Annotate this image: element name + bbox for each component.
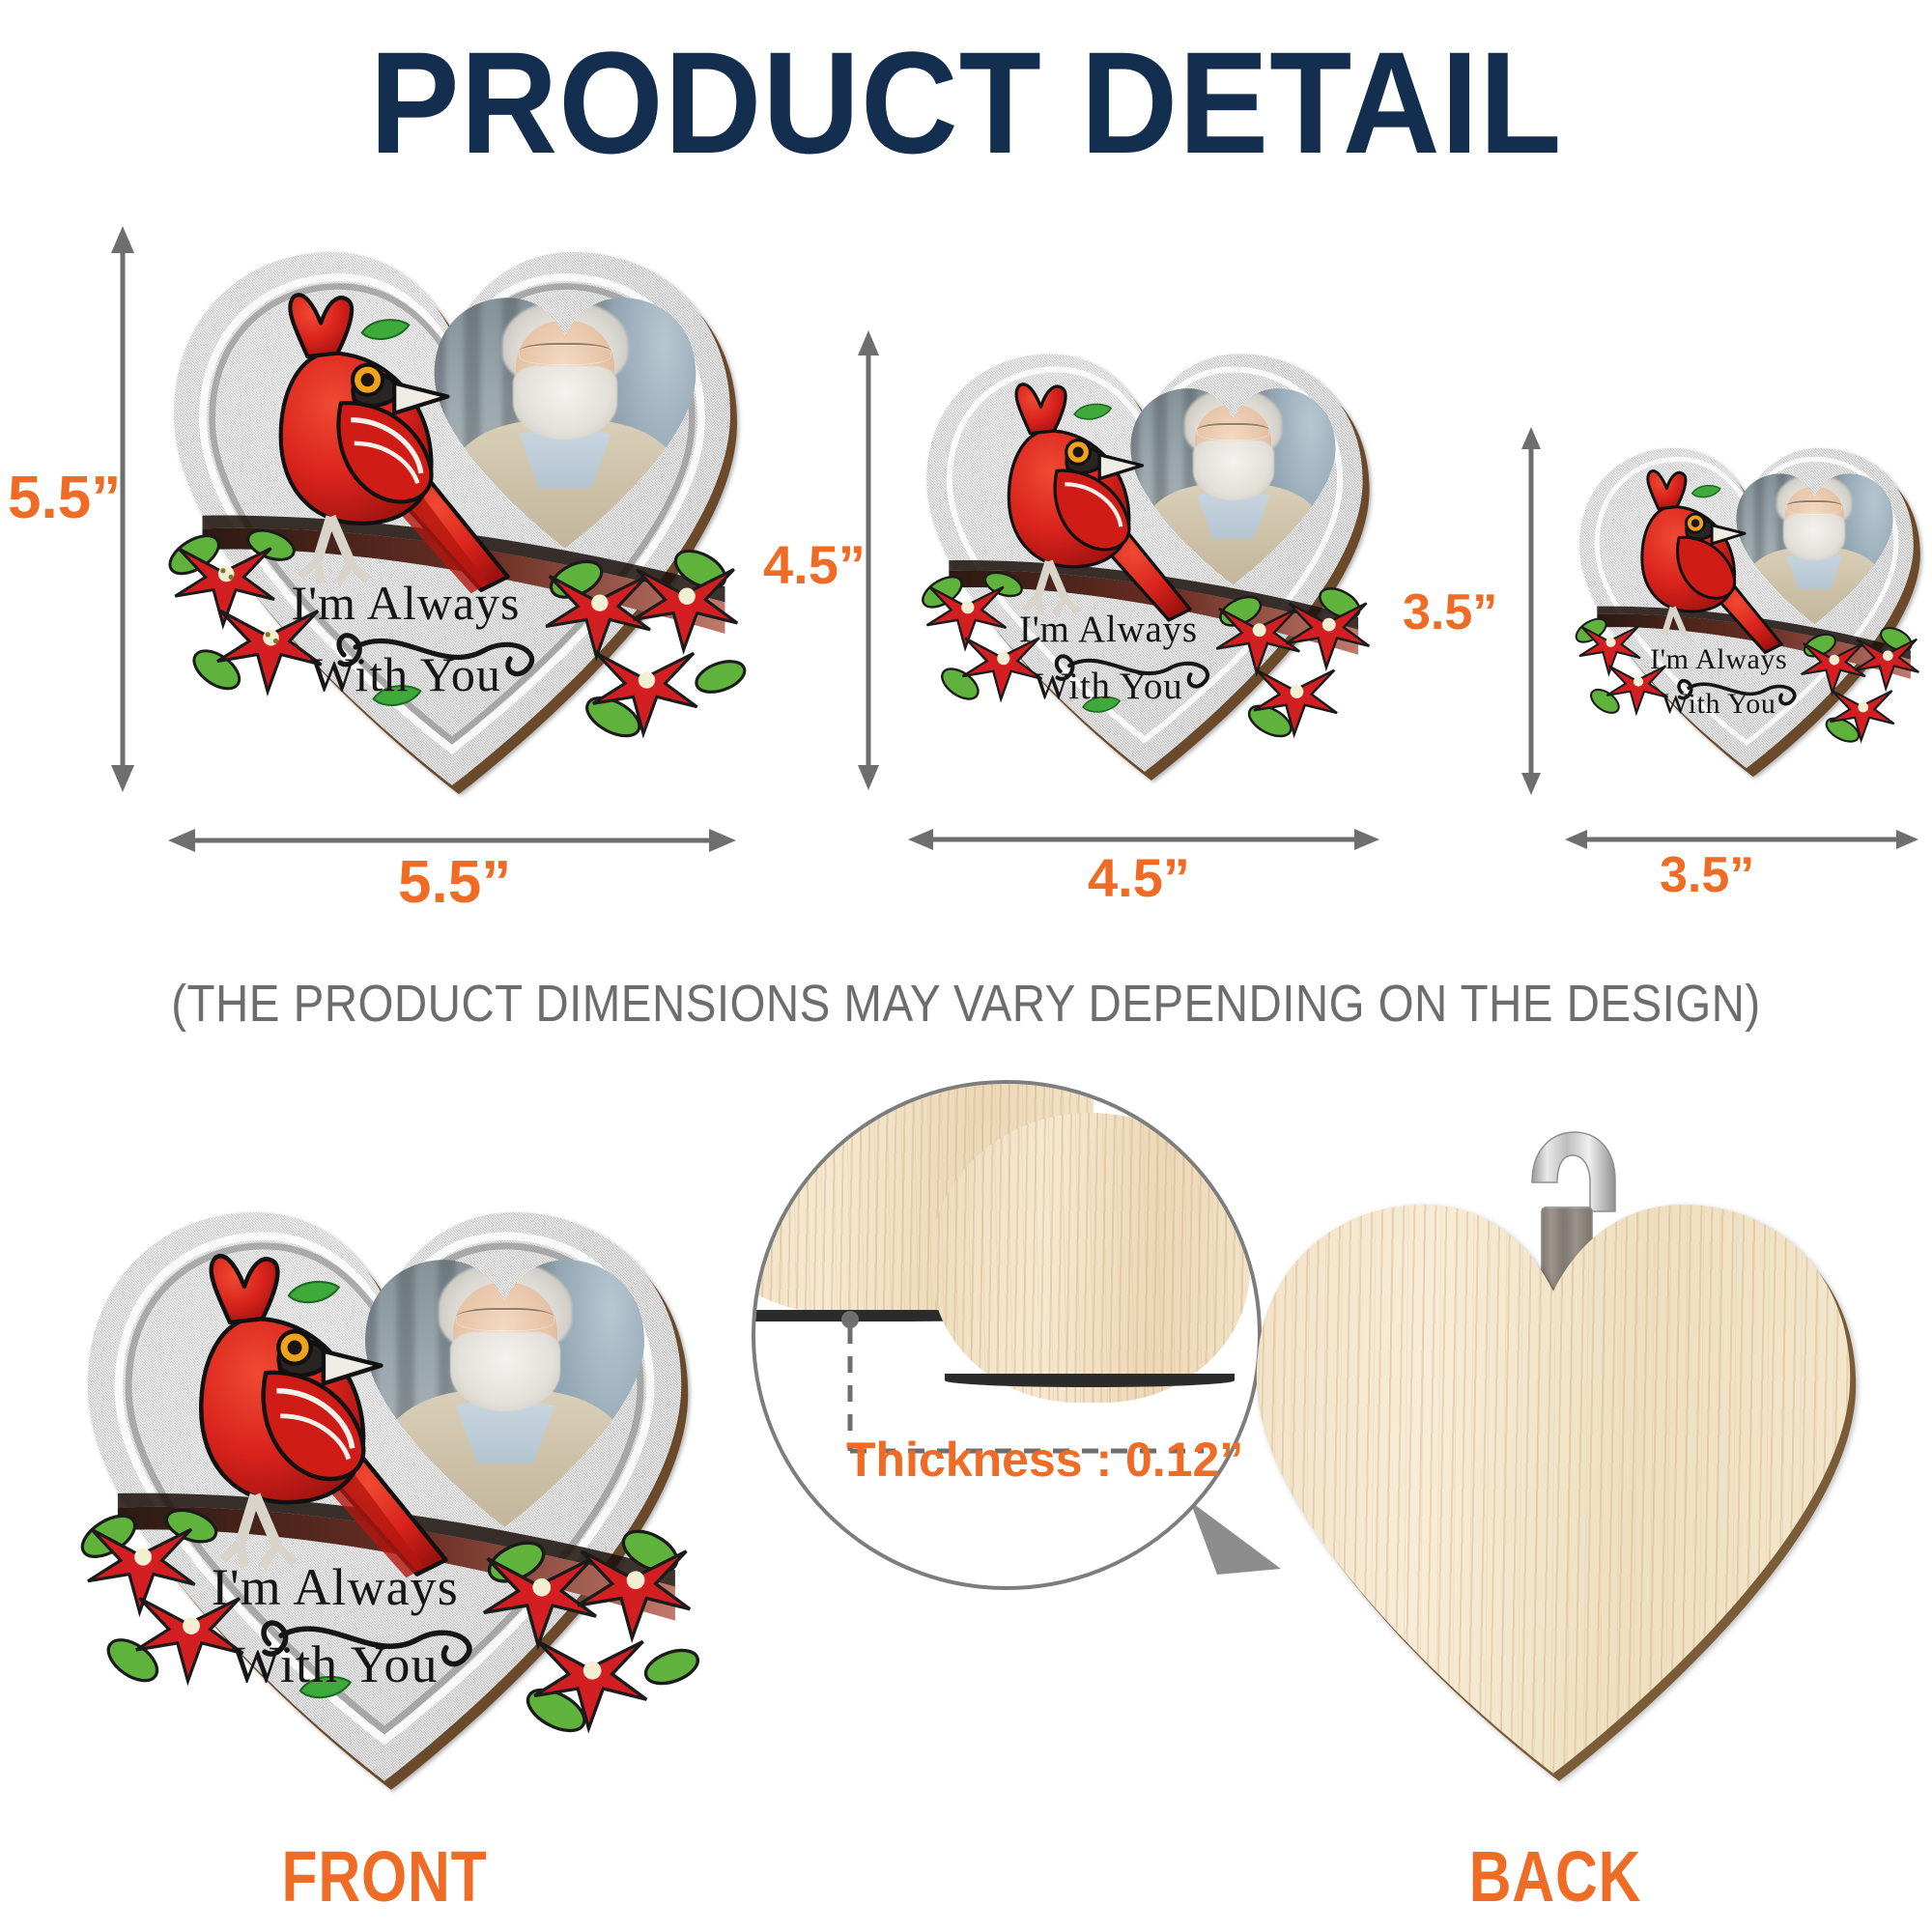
plaque-back-view <box>1244 1169 1862 1797</box>
dimension-label-width-medium: 4.5” <box>1088 846 1190 909</box>
poinsettia-cluster-right-front <box>459 1479 719 1750</box>
poinsettia-cluster-right-large <box>522 502 765 753</box>
dimension-label-height-medium: 4.5” <box>763 533 866 596</box>
poinsettia-cluster-right-medium <box>1199 550 1389 751</box>
green-leaf-top-small <box>1690 480 1721 503</box>
dimension-label-height-small: 3.5” <box>1403 583 1497 641</box>
plaque-medium: I'm Always With You <box>918 340 1372 777</box>
thickness-label: Thickness : 0.12” <box>846 1432 1243 1488</box>
page-title: PRODUCT DETAIL <box>68 27 1864 180</box>
decorative-swirl-small <box>1670 672 1809 713</box>
dimension-label-width-small: 3.5” <box>1660 846 1754 904</box>
dimension-label-height-large: 5.5” <box>8 464 121 532</box>
poinsettia-cluster-right-small <box>1788 598 1932 753</box>
plaque-large: I'm Always With You <box>162 240 742 786</box>
green-leaf-top-medium <box>1072 397 1113 428</box>
heart-shape-back <box>1244 1169 1862 1797</box>
dimension-arrow-height-small <box>1519 425 1544 797</box>
decorative-swirl-large <box>325 622 556 688</box>
green-leaf-top-large <box>359 311 412 350</box>
green-leaf-top-front <box>286 1272 342 1314</box>
product-detail-infographic: PRODUCT DETAIL 5.5” 5.5” <box>0 0 1932 1932</box>
dimension-label-width-large: 5.5” <box>398 848 511 917</box>
plaque-small: I'm Always With You <box>1573 437 1920 773</box>
plaque-front-view: I'm Always With You <box>75 1196 694 1785</box>
thickness-magnifier <box>752 1080 1262 1590</box>
plaque-surface-back <box>1244 1169 1862 1797</box>
back-view-label: BACK <box>1397 1835 1714 1918</box>
decorative-swirl-front <box>248 1608 496 1679</box>
front-view-label: FRONT <box>226 1835 543 1918</box>
dimensions-disclaimer: (THE PRODUCT DIMENSIONS MAY VARY DEPENDI… <box>116 974 1816 1034</box>
decorative-swirl-medium <box>1045 645 1227 697</box>
